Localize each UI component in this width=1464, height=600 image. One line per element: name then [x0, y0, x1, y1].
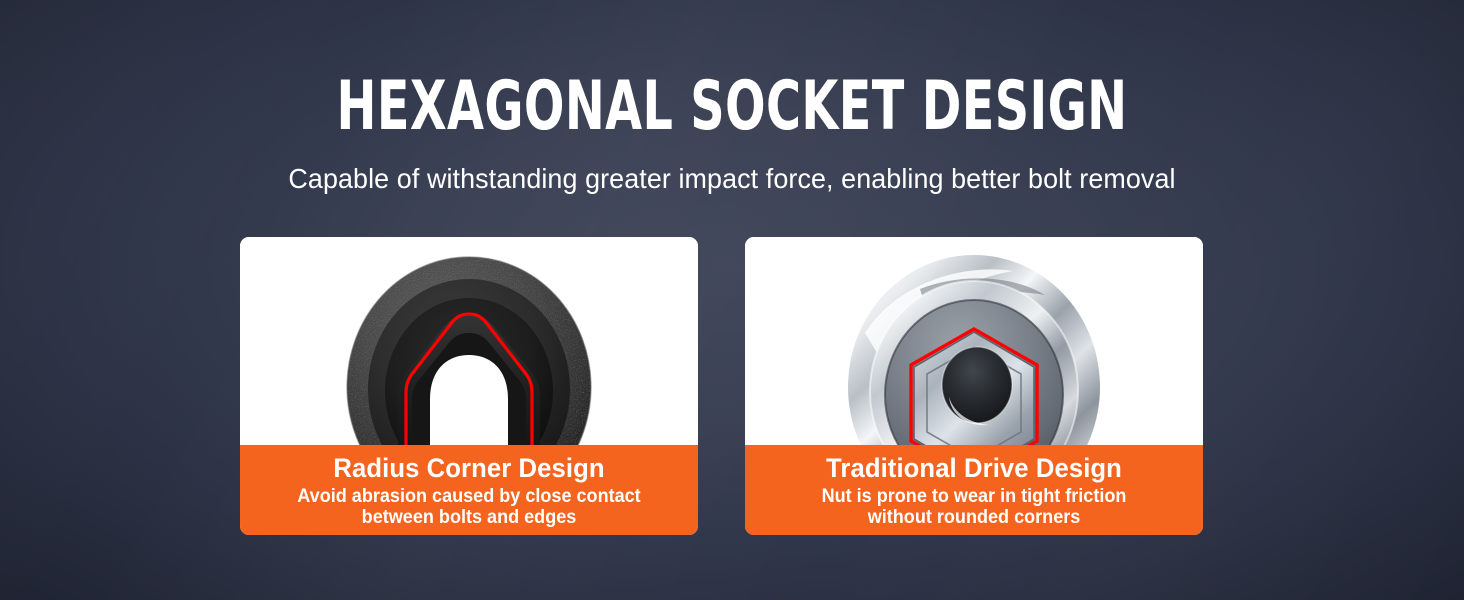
caption-subtitle: Nut is prone to wear in tight friction w… [756, 486, 1191, 528]
caption-subtitle-line-1: Avoid abrasion caused by close contact [251, 486, 686, 507]
page-subtitle: Capable of withstanding greater impact f… [29, 161, 1434, 197]
caption-title: Radius Corner Design [251, 452, 686, 484]
caption-title: Traditional Drive Design [756, 452, 1191, 484]
caption-subtitle-line-2: without rounded corners [756, 507, 1191, 528]
caption-bar-radius-corner: Radius Corner Design Avoid abrasion caus… [240, 445, 698, 535]
chrome-socket-sharp-hex-opening-image [745, 237, 1203, 445]
feature-card-traditional-drive: Traditional Drive Design Nut is prone to… [745, 237, 1203, 535]
caption-subtitle-line-1: Nut is prone to wear in tight friction [756, 486, 1191, 507]
feature-card-radius-corner: Radius Corner Design Avoid abrasion caus… [240, 237, 698, 535]
caption-subtitle: Avoid abrasion caused by close contact b… [251, 486, 686, 528]
caption-subtitle-line-2: between bolts and edges [251, 507, 686, 528]
product-feature-banner: HEXAGONAL SOCKET DESIGN Capable of withs… [0, 0, 1464, 600]
caption-bar-traditional-drive: Traditional Drive Design Nut is prone to… [745, 445, 1203, 535]
dark-impact-socket-rounded-corner-opening-image [240, 237, 698, 445]
page-title: HEXAGONAL SOCKET DESIGN [161, 70, 1303, 144]
